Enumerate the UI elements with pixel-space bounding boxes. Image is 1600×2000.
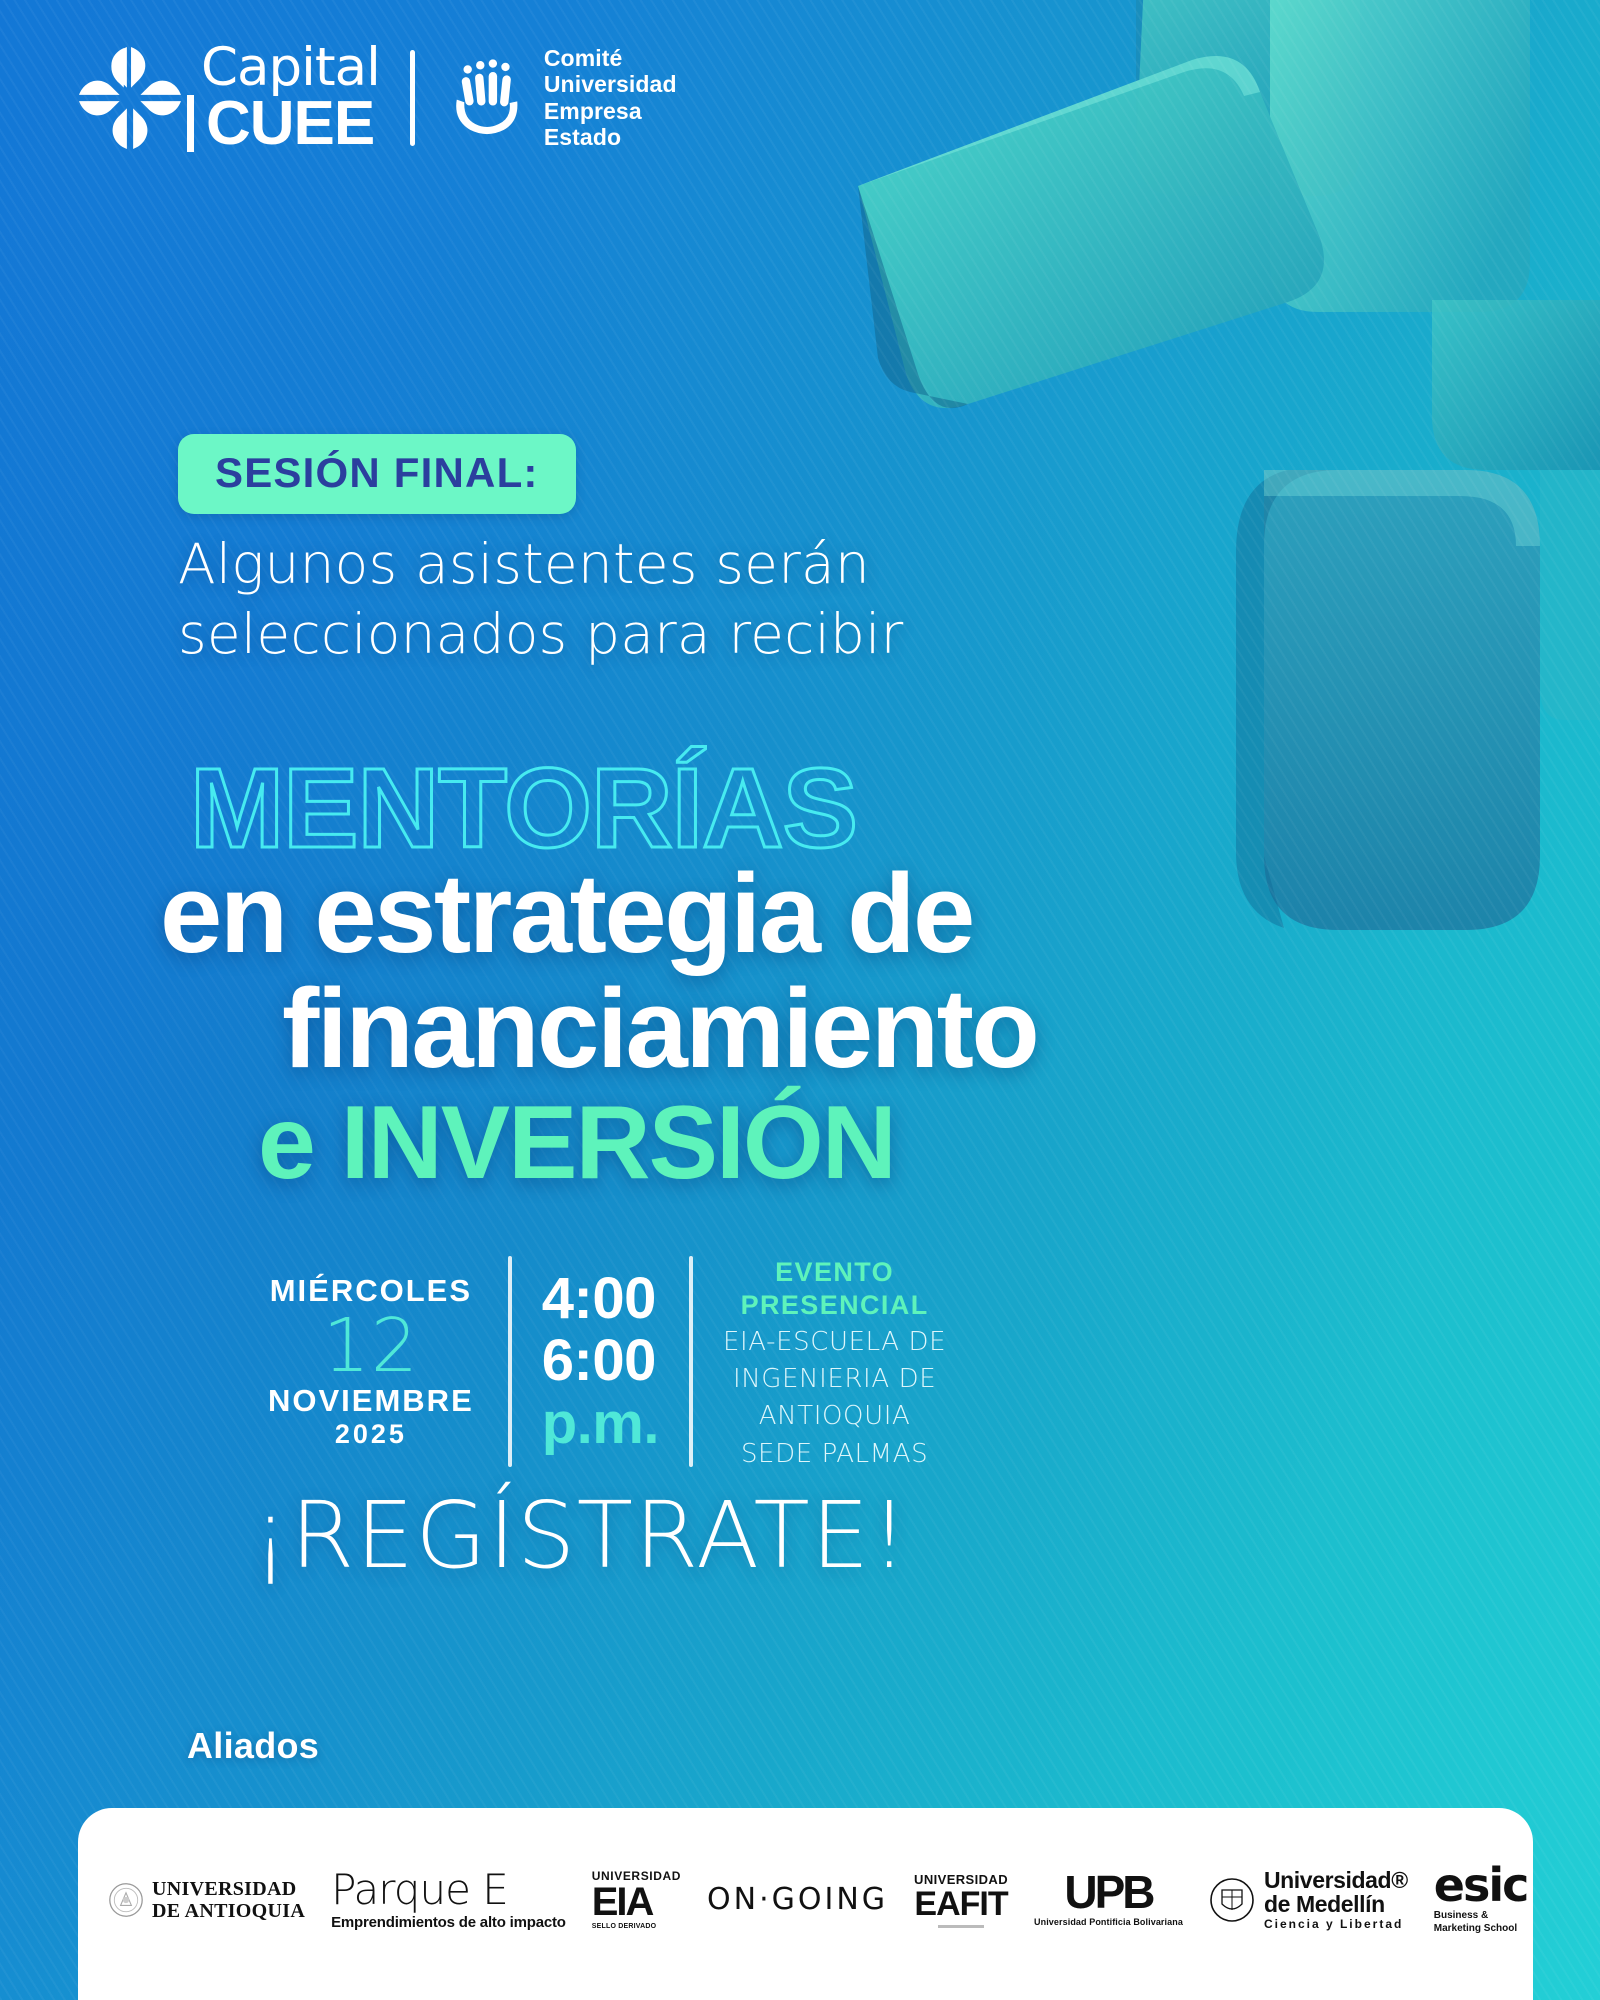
comite-line-3: Empresa [544,98,677,124]
upb-fullname: Universidad Pontificia Bolivariana [1034,1917,1183,1927]
poster-canvas: Capital CUEE Comité Universidad [0,0,1600,2000]
pinwheel-icon [78,46,182,150]
register-cta[interactable]: ¡REGÍSTRATE! [252,1482,909,1589]
headline-line-1: en estrategia de [160,860,1600,969]
upb-wordmark: UPB [1064,1872,1152,1913]
venue-line-1: EIA-ESCUELA DE [723,1326,946,1359]
info-separator-1 [508,1256,512,1467]
partners-card: UNIVERSIDAD DE ANTIOQUIA Parque E Empren… [78,1808,1533,2000]
lede-text: Algunos asistentes serán seleccionados p… [178,530,903,670]
brand-capital: Capital [188,44,380,93]
info-separator-2 [689,1256,693,1467]
esic-line-3: Marketing School [1434,1923,1517,1936]
outline-word-mentorias: MENTORÍAS [190,752,857,865]
capital-cuee-logo: Capital CUEE [78,44,380,152]
udem-crest-icon [1209,1877,1255,1923]
udem-line-1: Universidad® [1264,1868,1408,1892]
logo-divider [410,50,415,146]
comite-line-1: Comité [544,45,677,71]
partner-logo-upb: UPB Universidad Pontificia Bolivariana [1034,1872,1183,1926]
eia-line-3: SELLO DERIVADO [592,1923,657,1930]
event-time-start: 4:00 [542,1268,659,1331]
event-time-block: 4:00 6:00 p.m. [542,1252,659,1471]
partner-logo-esic: esic Business & Marketing School [1434,1864,1528,1936]
esic-line-2: Business & [1434,1910,1517,1923]
event-time-end: 6:00 [542,1330,659,1393]
udea-seal-icon [108,1882,144,1918]
headline-line-2: financiamiento [282,975,1600,1084]
brand-cuee: CUEE [187,95,380,152]
partner-logo-parque-e: Parque E Emprendimientos de alto impacto [331,1869,566,1931]
lede-line-1: Algunos asistentes serán [178,530,903,600]
eafit-wordmark: EAFIT [914,1887,1007,1921]
comite-cuee-logo: Comité Universidad Empresa Estado [445,45,677,151]
lede-line-2: seleccionados para recibir [178,600,903,670]
event-time-meridiem: p.m. [542,1393,659,1456]
udem-line-2: de Medellín [1264,1892,1408,1916]
headline-line-3: e INVERSIÓN [258,1093,1600,1194]
esic-sub: Business & Marketing School [1434,1910,1517,1935]
partner-logo-universidad-eafit: UNIVERSIDAD EAFIT [914,1872,1008,1928]
event-month: NOVIEMBRE [268,1383,474,1419]
event-day: 12 [268,1309,474,1384]
event-mode-line-2: PRESENCIAL [723,1289,946,1322]
parquee-tagline: Emprendimientos de alto impacto [331,1914,566,1931]
event-date-block: MIÉRCOLES 12 NOVIEMBRE 2025 [268,1252,478,1471]
udea-line-1: UNIVERSIDAD [152,1878,305,1900]
eia-wordmark: EIA [592,1883,653,1921]
venue-line-4: SEDE PALMAS [723,1438,946,1471]
event-mode-line-1: EVENTO [723,1256,946,1289]
venue-line-3: ANTIOQUIA [723,1400,946,1433]
headline-block: en estrategia de financiamiento e INVERS… [0,860,1600,1194]
comite-line-4: Estado [544,124,677,150]
udea-line-2: DE ANTIOQUIA [152,1900,305,1922]
partners-logo-row: UNIVERSIDAD DE ANTIOQUIA Parque E Empren… [78,1808,1533,1933]
eafit-rule [938,1925,984,1928]
hands-mark-icon [445,56,529,140]
parquee-wordmark: Parque E [331,1869,508,1911]
event-venue-block: EVENTO PRESENCIAL EIA-ESCUELA DE INGENIE… [723,1252,946,1471]
header-logo-bar: Capital CUEE Comité Universidad [78,44,677,152]
partners-heading: Aliados [187,1725,319,1767]
event-year: 2025 [268,1419,474,1450]
partner-logo-universidad-de-antioquia: UNIVERSIDAD DE ANTIOQUIA [108,1878,305,1922]
comite-line-2: Universidad [544,71,677,97]
udem-line-3: Ciencia y Libertad [1264,1918,1408,1931]
session-badge: SESIÓN FINAL: [178,434,576,514]
partner-logo-on-going: ON·GOING [707,1882,888,1917]
comite-cuee-text: Comité Universidad Empresa Estado [544,45,677,151]
esic-wordmark: esic [1434,1864,1528,1908]
venue-line-2: INGENIERIA DE [723,1363,946,1396]
event-info-bar: MIÉRCOLES 12 NOVIEMBRE 2025 4:00 6:00 p.… [268,1252,946,1471]
partner-logo-universidad-eia: UNIVERSIDAD EIA SELLO DERIVADO [592,1869,681,1930]
partner-logo-universidad-de-medellin: Universidad® de Medellín Ciencia y Liber… [1209,1868,1408,1931]
